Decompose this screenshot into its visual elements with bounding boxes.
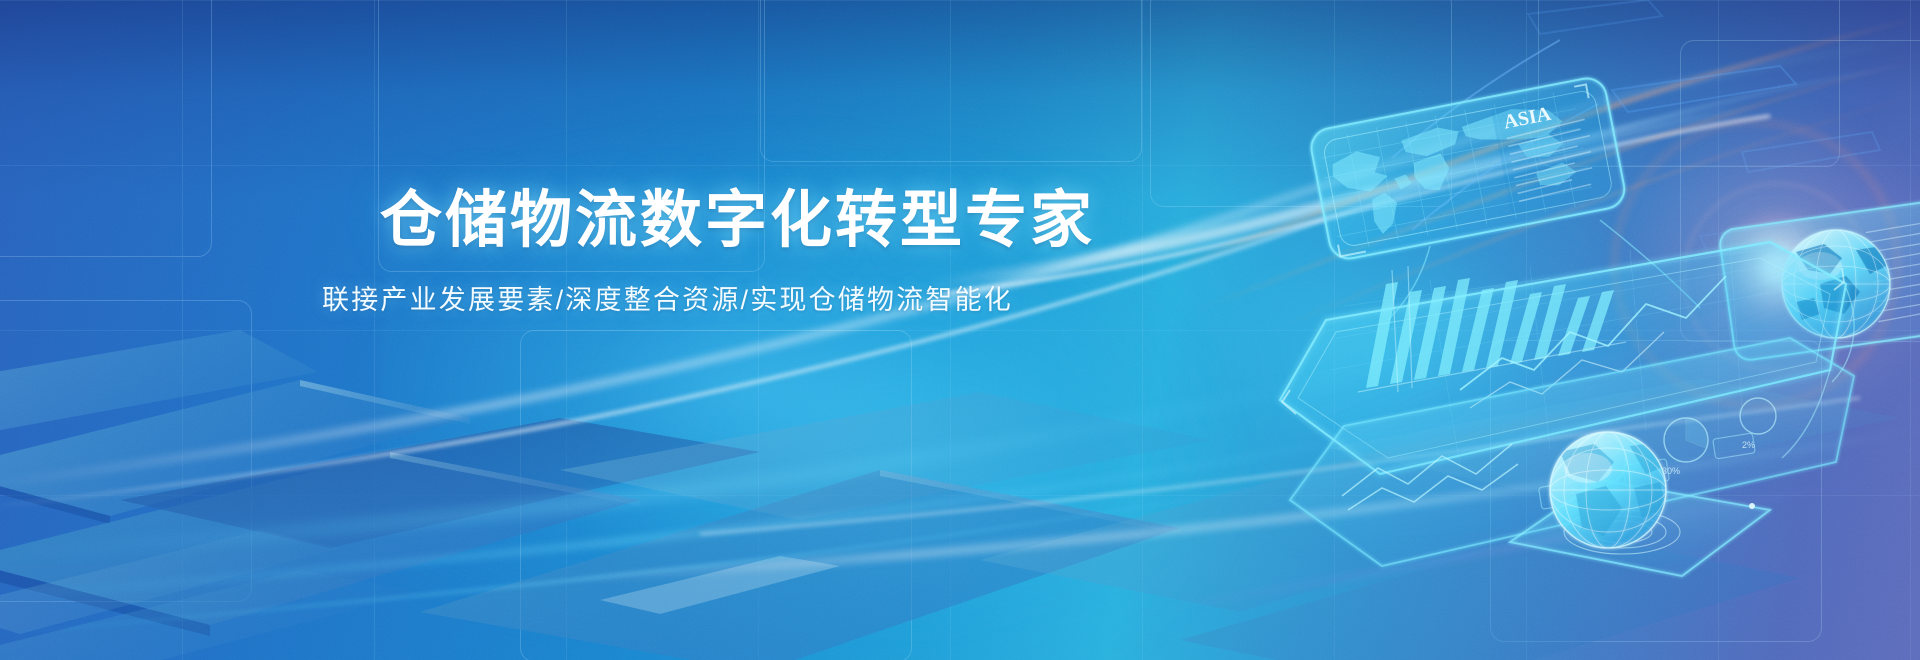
background-gradient [0,0,1920,660]
grid-rounded-box-9 [1680,40,1920,342]
page-title: 仓储物流数字化转型专家 [380,190,1122,252]
line-graph-secondary [1470,332,1664,408]
grid-rounded-box-7 [520,330,912,660]
world-map-continents [1327,99,1581,241]
pie-label-1: 25% [1570,486,1588,496]
grid-rounded-box-8 [1490,340,1822,642]
line-graph [1460,276,1726,390]
grid-rounded-box-6 [0,300,252,602]
lens-flare-halo [1600,90,1920,450]
hero-banner: ASIA [0,0,1920,660]
hero-text-block: 仓储物流数字化转型专家 联接产业发展要素/深度整合资源/实现仓储物流智能化 [322,190,1122,317]
grid-rounded-box-1 [0,0,212,257]
grid-rounded-box-4 [1150,0,1452,207]
asia-label-group: ASIA [1491,87,1614,215]
lens-flare-core [1718,208,1838,328]
geometric-plates [0,0,1920,660]
globe-lower [1550,432,1670,548]
right-cyan-glow [1150,140,1670,560]
main-holo-screen [1280,242,1846,474]
bar-chart [1366,278,1614,388]
panel-text-lines [1865,219,1920,321]
light-streaks [0,0,1920,660]
tech-grid-lines [0,0,1920,660]
asia-label: ASIA [1502,103,1554,134]
lens-flare-ring-outer [1612,120,1900,408]
globe-platform [1510,480,1770,576]
film-grain-texture [0,0,1920,660]
pie-charts [1574,398,1776,486]
globe-upper [1782,230,1890,338]
pie-label-3: 2% [1742,440,1755,450]
lower-holo-screen: 25% 30% 2% [1290,338,1854,566]
top-vignette [0,0,1920,660]
grid-rounded-box-3 [760,0,1142,162]
pie-label-2: 30% [1662,466,1680,476]
page-subtitle: 联接产业发展要素/深度整合资源/实现仓储物流智能化 [322,278,1122,317]
holographic-tech-graphic: ASIA [1130,70,1920,630]
grid-rounded-box-5 [1538,0,1840,167]
lower-center-glow [560,300,1260,660]
lens-flare-ring-inner [1682,182,1872,372]
